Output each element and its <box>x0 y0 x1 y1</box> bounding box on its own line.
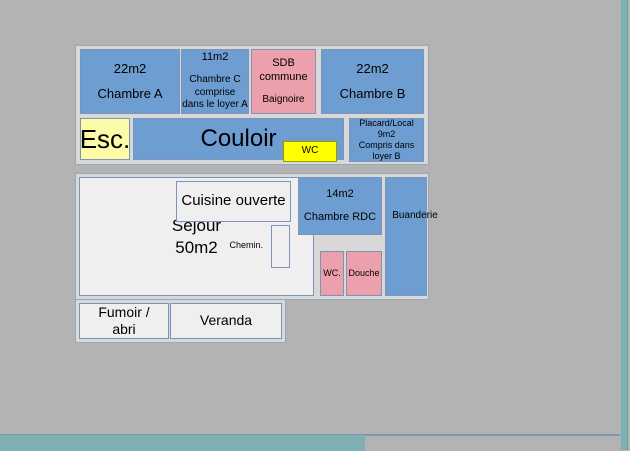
page-edge-bar-bottom <box>0 434 365 451</box>
room-buanderie[interactable]: Buanderie <box>385 177 427 296</box>
page-edge-strip-right <box>620 0 628 450</box>
room-label-cuisine-ouverte: Cuisine ouverte <box>181 192 285 211</box>
room-label-fumoir-1: Fumoir / <box>98 304 149 322</box>
room-label-buanderie: Buanderie <box>392 210 438 223</box>
room-escalier[interactable]: Esc. <box>80 118 130 160</box>
room-placard-local[interactable]: Placard/Local 9m2 Compris dans loyer B <box>349 118 424 162</box>
room-area-chambre-a: 22m2 <box>114 61 147 77</box>
room-wc-rdc[interactable]: WC. <box>320 251 344 296</box>
room-chambre-c[interactable]: 11m2 Chambre C comprise dans le loyer A <box>181 49 249 114</box>
room-chambre-b[interactable]: 22m2 Chambre B <box>321 49 424 114</box>
room-wc-etage[interactable]: WC <box>283 141 337 162</box>
room-chambre-a[interactable]: 22m2 Chambre A <box>80 49 180 114</box>
room-area-chambre-b: 22m2 <box>356 61 389 77</box>
room-label-fumoir-2: abri <box>112 321 135 339</box>
room-area-sejour: 50m2 <box>175 237 218 258</box>
room-label-chambre-c: Chambre C <box>189 74 240 87</box>
room-placard-line-4: loyer B <box>372 151 400 162</box>
room-placard-line-2: 9m2 <box>378 129 396 140</box>
cheminee-label: Chemin. <box>229 240 263 250</box>
room-cheminee[interactable] <box>271 225 290 268</box>
room-douche[interactable]: Douche <box>346 251 382 296</box>
room-area-chambre-rdc: 14m2 <box>326 188 354 202</box>
room-label-douche: Douche <box>348 268 379 279</box>
room-cuisine-ouverte[interactable]: Cuisine ouverte <box>176 181 291 222</box>
room-label-sdb-2: commune <box>259 71 307 85</box>
room-label-escalier: Esc. <box>80 123 131 156</box>
room-label-chambre-a: Chambre A <box>97 86 162 102</box>
room-label-chambre-b: Chambre B <box>340 86 406 102</box>
room-label-veranda: Veranda <box>200 312 252 330</box>
page-edge-line-bottom <box>365 434 620 436</box>
room-note-chambre-c-2: dans le loyer A <box>182 99 248 112</box>
room-placard-line-3: Compris dans <box>359 140 415 151</box>
room-label-couloir: Couloir <box>200 124 276 154</box>
room-area-chambre-c: 11m2 <box>202 51 229 65</box>
floor-plan-canvas: 22m2 Chambre A 11m2 Chambre C comprise d… <box>0 0 630 450</box>
room-placard-line-1: Placard/Local <box>359 118 414 129</box>
room-feature-baignoire: Baignoire <box>262 94 304 107</box>
room-note-chambre-c-1: comprise <box>195 87 236 100</box>
room-veranda[interactable]: Veranda <box>170 303 282 339</box>
room-sdb-commune[interactable]: SDB commune Baignoire <box>251 49 316 114</box>
room-chambre-rdc[interactable]: 14m2 Chambre RDC <box>298 177 382 235</box>
room-fumoir-abri[interactable]: Fumoir / abri <box>79 303 169 339</box>
room-label-chambre-rdc: Chambre RDC <box>304 211 376 225</box>
room-label-wc-rdc: WC. <box>323 268 341 279</box>
room-label-wc-etage: WC <box>302 145 319 158</box>
room-label-sdb-1: SDB <box>272 57 295 71</box>
